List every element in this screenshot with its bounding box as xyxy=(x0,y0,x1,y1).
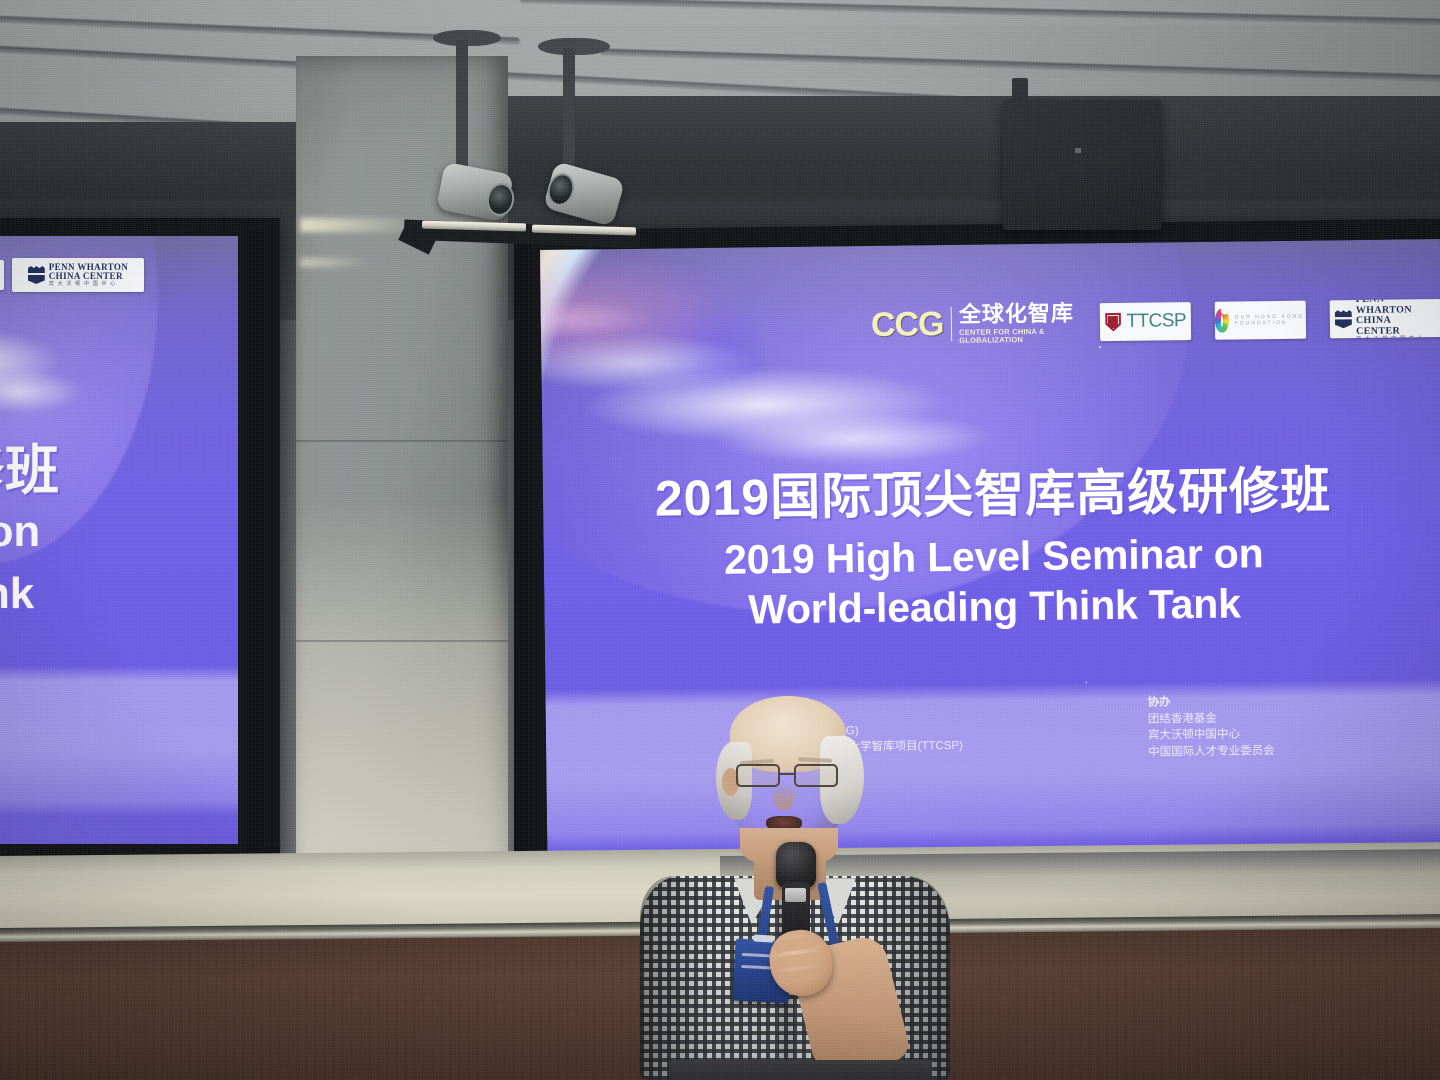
pillar-light-wash xyxy=(296,500,508,866)
ttcsp-logo: TTCSP xyxy=(1105,310,1186,333)
eyeglass-lens-left xyxy=(736,764,780,787)
logo-box-pwcc: PENN WHARTON CHINA CENTER 宾 大 沃 顿 中 国 中 … xyxy=(1330,299,1440,338)
pwcc-logo: PENN WHARTON CHINA CENTER 宾 大 沃 顿 中 国 中 … xyxy=(1335,299,1437,338)
ttcsp-label: TTCSP xyxy=(1126,310,1186,333)
ccg-divider xyxy=(950,307,952,341)
pwcc-logo: PENN WHARTON CHINA CENTER 宾 大 沃 顿 中 国 中 … xyxy=(28,263,128,287)
ccg-en-name: CENTER FOR CHINA & GLOBALIZATION xyxy=(959,327,1077,343)
ccg-logo: CCG 全球化智库 CENTER FOR CHINA & GLOBALIZATI… xyxy=(871,302,1077,345)
finger xyxy=(777,968,820,986)
organizer-cohost-block: 协办 团结香港基金 宾大沃顿中国中心 中国国际人才专业委员会 xyxy=(1147,693,1274,761)
presenter-nose xyxy=(773,782,795,810)
slide-title-cn: 2019国际顶尖智库高级研修班 xyxy=(543,449,1440,532)
slide-logo-row: CCG 全球化智库 CENTER FOR CHINA & GLOBALIZATI… xyxy=(871,295,1440,348)
organizer-cohost-line-3: 中国国际人才专业委员会 xyxy=(1148,743,1275,761)
shirt-shadow-left xyxy=(640,876,710,1080)
ccg-cn-name: 全球化智库 xyxy=(959,302,1077,325)
slide-left: 宾 大 沃 顿 中 国 中 心 PENN WHARTON CHINA CENTE… xyxy=(0,236,238,844)
left-slide-title-cn: 修班 xyxy=(0,426,60,505)
organizer-cohost-line-2: 宾大沃顿中国中心 xyxy=(1148,726,1275,744)
penn-shield-icon xyxy=(1105,312,1121,331)
pillar-seam xyxy=(296,640,508,642)
logo-box-pwcc-left: PENN WHARTON CHINA CENTER 宾 大 沃 顿 中 国 中 … xyxy=(12,258,144,292)
organizer-cohost-head: 协办 xyxy=(1147,693,1274,711)
screen-left-edge-post xyxy=(250,230,264,860)
left-slide-title-en-2: nk xyxy=(0,566,34,622)
ceiling-tile-band xyxy=(0,0,1440,26)
left-slide-title-en-1: on xyxy=(0,504,40,560)
speaker-indicator xyxy=(1075,148,1081,153)
ohkf-label: 宾 大 沃 顿 中 国 中 心 xyxy=(0,266,4,284)
microphone-label xyxy=(785,888,806,902)
projection-screen-left: 宾 大 沃 顿 中 国 中 心 PENN WHARTON CHINA CENTE… xyxy=(0,236,238,844)
eyeglass-lens-right xyxy=(794,764,838,787)
badge-text-line xyxy=(741,965,771,970)
badge-clip xyxy=(754,935,774,943)
finger xyxy=(773,951,820,969)
pwcc-line2: CHINA CENTER xyxy=(1356,315,1436,337)
pillar-seam xyxy=(296,440,508,442)
ccg-mark: CCG xyxy=(871,305,944,345)
logo-box-partial: 宾 大 沃 顿 中 国 中 心 xyxy=(0,260,4,290)
projection-wash-band xyxy=(0,666,238,816)
presenter-waist xyxy=(670,1060,932,1080)
pillar-highlight xyxy=(300,258,370,267)
pwcc-line1: PENN WHARTON xyxy=(1356,299,1436,316)
earth-atmosphere-glow xyxy=(540,248,740,385)
left-slide-logo-row: 宾 大 沃 顿 中 国 中 心 PENN WHARTON CHINA CENTE… xyxy=(0,258,144,292)
pwcc-line3: 宾 大 沃 顿 中 国 中 心 xyxy=(1356,336,1436,338)
penn-shield-icon xyxy=(1335,310,1352,328)
ceiling-speaker xyxy=(1003,100,1161,230)
presenter xyxy=(630,690,960,1080)
ohkf-label: OUR HONG KONG FOUNDATION xyxy=(1235,314,1306,327)
screen-main-left-post xyxy=(514,232,532,872)
organizer-cohost-line-1: 团结香港基金 xyxy=(1148,710,1275,728)
conference-room-photo: 宾 大 沃 顿 中 国 中 心 PENN WHARTON CHINA CENTE… xyxy=(0,0,1440,1080)
penn-shield-icon xyxy=(28,266,45,284)
pwcc-line3: 宾 大 沃 顿 中 国 中 心 xyxy=(49,282,128,287)
logo-box-ttcsp: TTCSP xyxy=(1100,302,1191,341)
ohkf-ring-icon xyxy=(1215,309,1229,333)
logo-box-ohkf: OUR HONG KONG FOUNDATION xyxy=(1215,301,1306,340)
slide-title-en-line2: World-leading Think Tank xyxy=(544,575,1440,638)
eyeglass-bridge xyxy=(780,773,794,775)
finger xyxy=(773,936,818,954)
